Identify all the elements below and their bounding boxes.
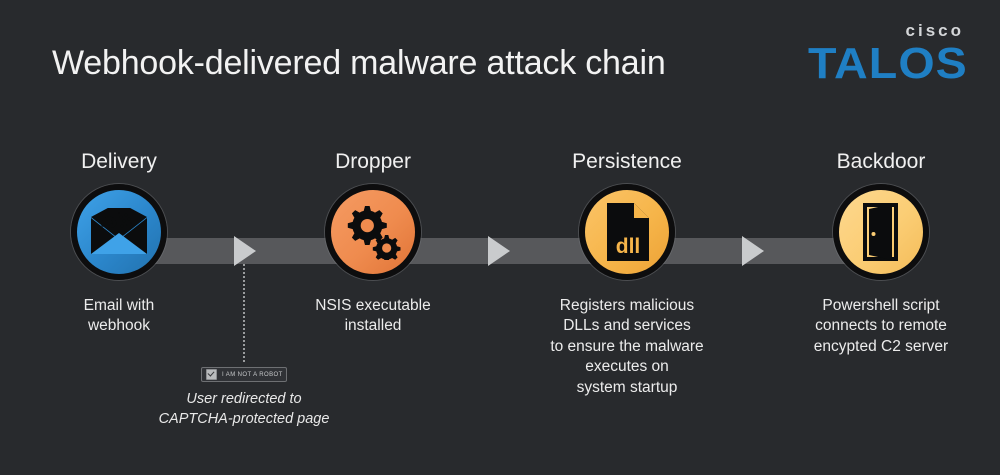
chain-arrow-3 <box>742 236 764 266</box>
cisco-talos-logo: cisco TALOS <box>817 22 968 86</box>
stage-description-dropper: NSIS executable installed <box>258 296 488 337</box>
stage-backdoor: Backdoor Powershell script connects to r… <box>766 150 996 357</box>
gears-icon <box>343 204 403 260</box>
dll-file-icon-text: dll <box>616 235 641 258</box>
captcha-checkbox-icon <box>206 369 217 380</box>
stage-label-delivery: Delivery <box>4 150 234 174</box>
captcha-note: User redirected to CAPTCHA-protected pag… <box>144 390 344 429</box>
captcha-badge: I AM NOT A ROBOT <box>201 367 287 382</box>
page-title: Webhook-delivered malware attack chain <box>52 44 666 83</box>
envelope-hook-icon <box>89 208 149 256</box>
open-door-icon <box>855 203 907 261</box>
stage-delivery: Delivery Email with webhook <box>4 150 234 337</box>
captcha-connector-line <box>243 264 245 362</box>
stage-icon-circle-persistence: dll <box>579 184 675 280</box>
brand-talos-wordmark: TALOS <box>808 42 968 86</box>
dll-file-icon: dll <box>601 201 653 263</box>
infographic-canvas: Webhook-delivered malware attack chain c… <box>0 0 1000 475</box>
captcha-label: I AM NOT A ROBOT <box>222 372 283 378</box>
stage-dropper: Dropper NSIS executable installed <box>258 150 488 337</box>
chain-arrow-1 <box>234 236 256 266</box>
stage-icon-circle-backdoor <box>833 184 929 280</box>
stage-icon-circle-delivery <box>71 184 167 280</box>
chain-arrow-2 <box>488 236 510 266</box>
stage-description-persistence: Registers malicious DLLs and services to… <box>512 296 742 398</box>
stage-icon-circle-dropper <box>325 184 421 280</box>
stage-label-dropper: Dropper <box>258 150 488 174</box>
stage-label-backdoor: Backdoor <box>766 150 996 174</box>
brand-cisco-wordmark: cisco <box>817 22 964 39</box>
stage-label-persistence: Persistence <box>512 150 742 174</box>
stage-description-delivery: Email with webhook <box>4 296 234 337</box>
stage-persistence: Persistence dll Registers malicious DLLs… <box>512 150 742 398</box>
stage-description-backdoor: Powershell script connects to remote enc… <box>766 296 996 357</box>
